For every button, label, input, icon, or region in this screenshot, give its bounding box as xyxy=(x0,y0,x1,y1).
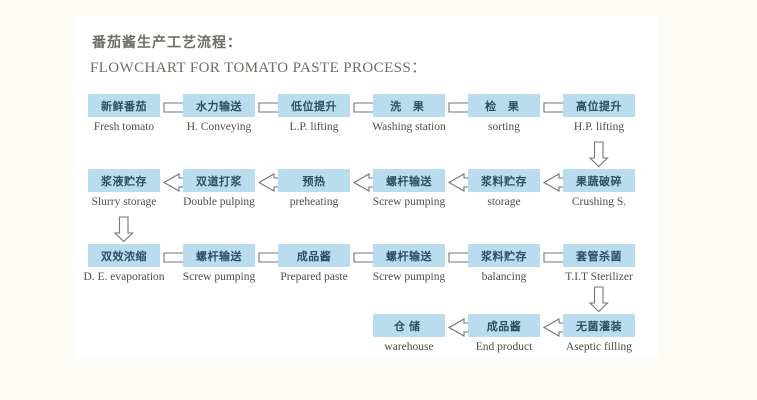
node-screw-pumping-2[interactable]: 螺杆输送 Screw pumping xyxy=(183,244,255,283)
node-end-product-cn: 成品酱 xyxy=(468,314,540,337)
node-sorting-cn: 检 果 xyxy=(468,94,540,117)
node-washing-station-cn: 洗 果 xyxy=(373,94,445,117)
node-hp-lifting-cn: 高位提升 xyxy=(563,94,635,117)
node-screw-pumping-2-cn: 螺杆输送 xyxy=(183,244,255,267)
node-tit-sterilizer-en: T.I.T Sterilizer xyxy=(549,271,649,283)
arrow-down-icon xyxy=(590,287,608,312)
node-washing-station[interactable]: 洗 果 Washing station xyxy=(373,94,445,133)
flowchart-panel: 番茄酱生产工艺流程： FLOWCHART FOR TOMATO PASTE PR… xyxy=(75,16,658,358)
node-balancing-en: balancing xyxy=(468,271,540,283)
node-prepared-paste-en: Prepared paste xyxy=(264,271,364,283)
node-fresh-tomato[interactable]: 新鲜番茄 Fresh tomato xyxy=(88,94,160,133)
node-tit-sterilizer-cn: 套管杀菌 xyxy=(563,244,635,267)
node-screw-pumping-1-en: Screw pumping xyxy=(359,196,459,208)
node-crushing-s[interactable]: 果蔬破碎 Crushing S. xyxy=(563,169,635,208)
node-sorting-en: sorting xyxy=(468,121,540,133)
node-screw-pumping-1-cn: 螺杆输送 xyxy=(373,169,445,192)
node-slurry-storage-cn: 浆液贮存 xyxy=(88,169,160,192)
node-double-pulping-en: Double pulping xyxy=(183,196,255,208)
node-slurry-storage[interactable]: 浆液贮存 Slurry storage xyxy=(88,169,160,208)
node-prepared-paste[interactable]: 成品酱 Prepared paste xyxy=(278,244,350,283)
arrow-down-icon xyxy=(590,142,608,167)
node-de-evaporation-en: D. E. evaporation xyxy=(74,271,174,283)
node-crushing-s-en: Crushing S. xyxy=(563,196,635,208)
node-preheating-en: preheating xyxy=(278,196,350,208)
node-warehouse-en: warehouse xyxy=(373,341,445,353)
node-warehouse-cn: 仓储 xyxy=(373,314,445,337)
node-h-conveying-en: H. Conveying xyxy=(183,121,255,133)
node-hp-lifting-en: H.P. lifting xyxy=(563,121,635,133)
node-aseptic-filling-en: Aseptic filling xyxy=(549,341,649,353)
node-washing-station-en: Washing station xyxy=(359,121,459,133)
node-screw-pumping-3-cn: 螺杆输送 xyxy=(373,244,445,267)
node-de-evaporation[interactable]: 双效浓缩 D. E. evaporation xyxy=(88,244,160,283)
node-aseptic-filling-cn: 无菌灌装 xyxy=(563,314,635,337)
node-h-conveying-cn: 水力输送 xyxy=(183,94,255,117)
node-hp-lifting[interactable]: 高位提升 H.P. lifting xyxy=(563,94,635,133)
node-storage[interactable]: 浆料贮存 storage xyxy=(468,169,540,208)
page-title-english: FLOWCHART FOR TOMATO PASTE PROCESS： xyxy=(90,56,427,77)
page-title-chinese: 番茄酱生产工艺流程： xyxy=(92,32,242,52)
node-screw-pumping-3[interactable]: 螺杆输送 Screw pumping xyxy=(373,244,445,283)
node-double-pulping-cn: 双道打浆 xyxy=(183,169,255,192)
node-slurry-storage-en: Slurry storage xyxy=(88,196,160,208)
node-fresh-tomato-cn: 新鲜番茄 xyxy=(88,94,160,117)
node-screw-pumping-3-en: Screw pumping xyxy=(359,271,459,283)
node-sorting[interactable]: 检 果 sorting xyxy=(468,94,540,133)
node-fresh-tomato-en: Fresh tomato xyxy=(88,121,160,133)
node-lp-lifting-en: L.P. lifting xyxy=(278,121,350,133)
node-prepared-paste-cn: 成品酱 xyxy=(278,244,350,267)
node-preheating-cn: 预热 xyxy=(278,169,350,192)
flowchart-canvas: 番茄酱生产工艺流程： FLOWCHART FOR TOMATO PASTE PR… xyxy=(0,0,757,400)
node-end-product[interactable]: 成品酱 End product xyxy=(468,314,540,353)
arrow-down-icon xyxy=(115,217,133,242)
node-balancing[interactable]: 浆料贮存 balancing xyxy=(468,244,540,283)
node-lp-lifting-cn: 低位提升 xyxy=(278,94,350,117)
node-end-product-en: End product xyxy=(454,341,554,353)
node-tit-sterilizer[interactable]: 套管杀菌 T.I.T Sterilizer xyxy=(563,244,635,283)
node-de-evaporation-cn: 双效浓缩 xyxy=(88,244,160,267)
node-lp-lifting[interactable]: 低位提升 L.P. lifting xyxy=(278,94,350,133)
node-warehouse[interactable]: 仓储 warehouse xyxy=(373,314,445,353)
node-preheating[interactable]: 预热 preheating xyxy=(278,169,350,208)
node-double-pulping[interactable]: 双道打浆 Double pulping xyxy=(183,169,255,208)
node-screw-pumping-2-en: Screw pumping xyxy=(169,271,269,283)
node-crushing-s-cn: 果蔬破碎 xyxy=(563,169,635,192)
node-storage-cn: 浆料贮存 xyxy=(468,169,540,192)
node-storage-en: storage xyxy=(468,196,540,208)
node-h-conveying[interactable]: 水力输送 H. Conveying xyxy=(183,94,255,133)
node-balancing-cn: 浆料贮存 xyxy=(468,244,540,267)
node-aseptic-filling[interactable]: 无菌灌装 Aseptic filling xyxy=(563,314,635,353)
node-screw-pumping-1[interactable]: 螺杆输送 Screw pumping xyxy=(373,169,445,208)
